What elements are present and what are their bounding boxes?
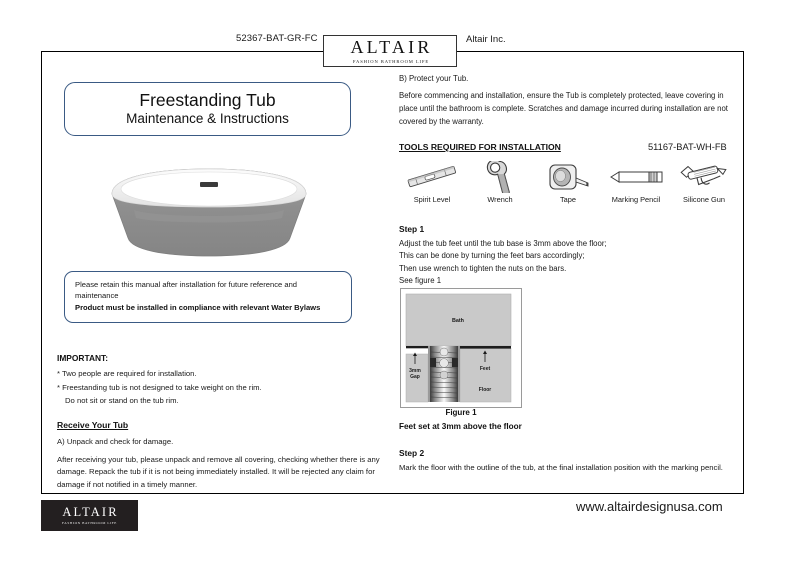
figure-1-caption: Figure 1 [400,408,522,417]
bath-label: Bath [452,318,464,324]
tool-marking-pencil: Marking Pencil [603,160,669,204]
nut-3 [440,371,448,379]
floor-label: Floor [479,387,492,393]
protect-paragraph: Before commencing and installation, ensu… [399,90,739,129]
tool-silicone-gun: Silicone Gun [671,160,737,204]
tool-label: Marking Pencil [603,195,669,204]
important-item-1: * Two people are required for installati… [57,368,387,380]
notice-line-2: maintenance [75,291,341,302]
nut-shadow-right [452,358,458,367]
important-subitem: Do not sit or stand on the tub rim. [57,395,387,407]
nut-1 [440,348,448,356]
tool-tape: Tape [535,160,601,204]
spirit-level-icon [399,160,465,194]
page-subtitle: Maintenance & Instructions [126,111,289,127]
step2-paragraph: Mark the floor with the outline of the t… [399,462,741,474]
model-number-left: 52367-BAT-GR-FC [236,33,318,44]
receive-tub-section: Receive Your Tub A) Unpack and check for… [57,420,382,491]
footer-website-url: www.altairdesignusa.com [576,499,723,514]
altair-logo-tagline: FASHION BATHROOM LIFE [351,59,429,64]
title-box: Freestanding Tub Maintenance & Instructi… [64,82,351,136]
right-floor-block [460,348,511,402]
tub-svg [94,156,324,264]
nut-shadow-left [430,358,436,367]
tool-label: Wrench [467,195,533,204]
step1-line-1: Adjust the tub feet until the tub base i… [399,238,739,250]
protect-heading: B) Protect your Tub. [399,74,468,83]
retain-manual-notice: Please retain this manual after installa… [64,271,352,323]
model-number-right: 51167-BAT-WH-FB [648,142,727,152]
figure-1-svg: Bath [400,288,522,408]
receive-paragraph: After receiving your tub, please unpack … [57,454,382,491]
right-column: B) Protect your Tub. Before commencing a… [399,52,745,493]
step2-heading: Step 2 [399,448,424,458]
step1-heading: Step 1 [399,224,424,234]
tools-heading: TOOLS REQUIRED FOR INSTALLATION [399,142,561,152]
tools-row: Spirit Level Wrench [399,160,739,210]
feet-label: Feet [480,366,491,372]
content-frame: Freestanding Tub Maintenance & Instructi… [41,51,744,494]
wrench-icon [467,160,533,194]
instruction-sheet-page: 52367-BAT-GR-FC Altair Inc. Freestanding… [0,0,802,567]
step1-line-4: See figure 1 [399,275,739,287]
tape-measure-icon [535,160,601,194]
footer-logo-wordmark: ALTAIR [60,506,118,519]
gap-label-line2: Gap [410,374,420,380]
altair-logo-header: ALTAIR FASHION BATHROOM LIFE [323,35,457,67]
silicone-gun-icon [671,160,737,194]
tub-illustration [94,156,324,264]
company-name: Altair Inc. [466,34,506,45]
tool-label: Silicone Gun [671,195,737,204]
nut-2 [440,359,449,368]
tub-basin [121,172,297,206]
figure-1-subcaption: Feet set at 3mm above the floor [399,422,522,431]
step1-line-3: Then use wrench to tighten the nuts on t… [399,263,739,275]
page-title: Freestanding Tub [139,90,275,110]
receive-item-a: A) Unpack and check for damage. [57,436,382,448]
pencil-icon [603,160,669,194]
notice-bylaws: Product must be installed in compliance … [75,303,341,314]
footer-logo: ALTAIR FASHION BATHROOM LIFE [41,500,138,531]
tool-label: Tape [535,195,601,204]
notice-line-1: Please retain this manual after installa… [75,280,341,291]
tool-spirit-level: Spirit Level [399,160,465,204]
step1-line-2: This can be done by turning the feet bar… [399,250,739,262]
receive-heading: Receive Your Tub [57,420,382,430]
overflow-fitting-icon [200,182,218,187]
important-heading: IMPORTANT: [57,353,387,363]
left-column: Freestanding Tub Maintenance & Instructi… [42,52,394,493]
feet-top-bar [460,346,511,349]
tool-wrench: Wrench [467,160,533,204]
important-section: IMPORTANT: * Two people are required for… [57,353,387,407]
important-item-2: * Freestanding tub is not designed to ta… [57,382,387,394]
footer-logo-tagline: FASHION BATHROOM LIFE [62,521,117,525]
gap-void [406,348,428,354]
figure-1-diagram: Bath [400,288,522,408]
step1-body: Adjust the tub feet until the tub base i… [399,238,739,288]
tool-label: Spirit Level [399,195,465,204]
altair-logo-wordmark: ALTAIR [347,38,432,56]
